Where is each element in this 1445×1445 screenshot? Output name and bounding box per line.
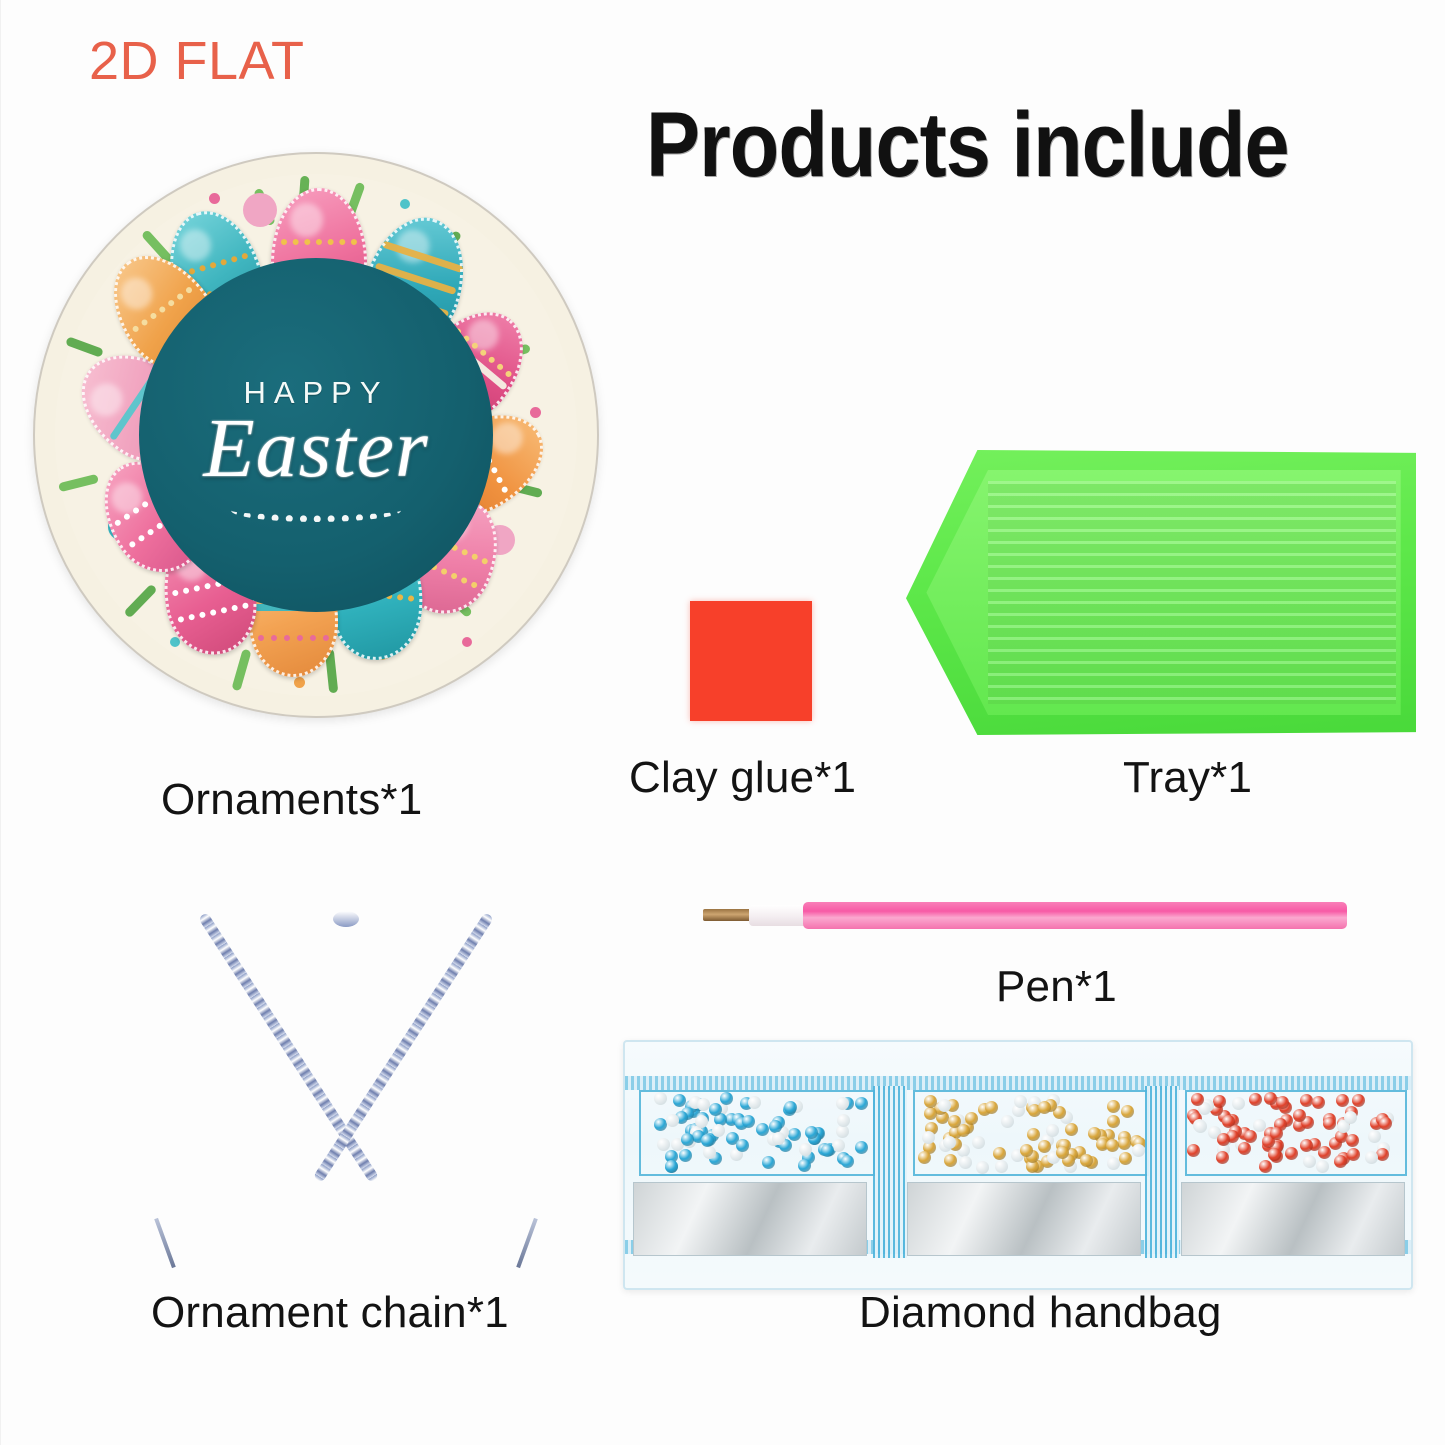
rhinestone <box>712 1124 725 1137</box>
rhinestone <box>1344 1111 1357 1124</box>
ornament-image: HAPPY Easter <box>33 152 599 718</box>
rhinestone <box>720 1092 733 1105</box>
rhinestone <box>837 1114 850 1127</box>
rhinestone <box>654 1118 667 1131</box>
rhinestone <box>841 1155 854 1168</box>
rhinestone <box>784 1101 797 1114</box>
pen-caption: Pen*1 <box>996 962 1117 1012</box>
rhinestone <box>1121 1105 1134 1118</box>
rhinestone <box>1038 1101 1051 1114</box>
stone-compartment-gold <box>913 1090 1149 1176</box>
pen-barrel <box>803 902 1347 929</box>
rhinestone <box>1316 1160 1329 1173</box>
rhinestone <box>1107 1115 1120 1128</box>
rhinestone <box>703 1146 716 1159</box>
rhinestone <box>918 1151 931 1164</box>
rhinestone <box>1216 1151 1229 1164</box>
rhinestone <box>1365 1151 1378 1164</box>
rhinestone <box>1106 1139 1119 1152</box>
ornament-chain-caption: Ornament chain*1 <box>151 1288 509 1338</box>
rhinestone <box>1334 1155 1347 1168</box>
chain-pin-right <box>516 1218 538 1268</box>
rhinestone <box>836 1097 849 1110</box>
rhinestone <box>1118 1137 1131 1150</box>
bag-divider-2 <box>1145 1086 1179 1258</box>
ornament-caption: Ornaments*1 <box>161 775 422 825</box>
rhinestone <box>666 1114 679 1127</box>
rhinestone <box>1132 1144 1145 1157</box>
rhinestone <box>1238 1142 1251 1155</box>
stone-compartment-red <box>1185 1090 1407 1176</box>
tray-grooves <box>988 481 1396 703</box>
pen-image <box>677 896 1347 936</box>
rhinestone <box>756 1123 769 1136</box>
rhinestone <box>805 1126 818 1139</box>
rhinestone <box>1300 1094 1313 1107</box>
bag-zip-top <box>625 1076 1411 1090</box>
rhinestone <box>1014 1095 1027 1108</box>
rhinestone <box>1107 1100 1120 1113</box>
rhinestone <box>922 1131 935 1144</box>
rhinestone <box>1336 1094 1349 1107</box>
rhinestone <box>679 1149 692 1162</box>
script-swash <box>231 499 401 522</box>
rhinestone <box>1270 1127 1283 1140</box>
ornament-disc: HAPPY Easter <box>33 152 599 718</box>
rhinestone <box>673 1094 686 1107</box>
rhinestone <box>1318 1146 1331 1159</box>
rhinestone <box>769 1120 782 1133</box>
rhinestone <box>762 1156 775 1169</box>
rhinestone <box>1303 1155 1316 1168</box>
rhinestone <box>1347 1148 1360 1161</box>
foil-pouch-3 <box>1181 1182 1405 1256</box>
rhinestone <box>1285 1147 1298 1160</box>
diamond-handbag-image <box>623 1040 1413 1290</box>
rhinestone <box>855 1097 868 1110</box>
rhinestone <box>1065 1123 1078 1136</box>
rhinestone <box>1264 1092 1277 1105</box>
rhinestone <box>1001 1115 1014 1128</box>
rhinestone <box>976 1161 989 1174</box>
chain-arm-left <box>198 912 379 1183</box>
tray-body <box>906 450 1416 735</box>
rhinestone <box>742 1115 755 1128</box>
easter-text: Easter <box>139 400 493 497</box>
rhinestone <box>1368 1130 1381 1143</box>
diamond-handbag-caption: Diamond handbag <box>859 1288 1222 1338</box>
rhinestone <box>654 1092 667 1105</box>
rhinestone <box>1107 1157 1120 1170</box>
clay-glue-image <box>690 601 812 721</box>
tray-image <box>906 450 1416 735</box>
chain-arm-right <box>313 912 494 1183</box>
clay-glue-caption: Clay glue*1 <box>629 753 856 803</box>
rhinestone <box>924 1095 937 1108</box>
ornament-chain-image <box>141 915 551 1275</box>
rhinestone <box>1293 1109 1306 1122</box>
rhinestone <box>1276 1096 1289 1109</box>
foil-pouch-1 <box>633 1182 867 1256</box>
product-listing-page: 2D FLAT Products include <box>0 0 1445 1445</box>
rhinestone <box>1312 1096 1325 1109</box>
disc-center: HAPPY Easter <box>139 258 493 612</box>
pen-ferrule <box>749 905 811 926</box>
rhinestone <box>1232 1097 1245 1110</box>
chain-pin-left <box>154 1218 176 1268</box>
rhinestone <box>1020 1144 1033 1157</box>
rhinestone <box>1027 1128 1040 1141</box>
rhinestone <box>1194 1120 1207 1133</box>
rhinestone <box>924 1107 937 1120</box>
rhinestone <box>995 1160 1008 1173</box>
rhinestone <box>1323 1117 1336 1130</box>
rhinestone <box>1191 1093 1204 1106</box>
rhinestone <box>959 1156 972 1169</box>
foil-pouch-2 <box>907 1182 1141 1256</box>
rhinestone <box>965 1112 978 1125</box>
badge-2d-flat: 2D FLAT <box>89 30 305 92</box>
handbag-bag <box>623 1040 1413 1290</box>
rhinestone <box>772 1132 785 1145</box>
rhinestone <box>993 1147 1006 1160</box>
rhinestone <box>657 1138 670 1151</box>
rhinestone <box>1056 1146 1069 1159</box>
rhinestone <box>1259 1160 1272 1173</box>
rhinestone <box>1249 1093 1262 1106</box>
rhinestone <box>1213 1095 1226 1108</box>
rhinestone <box>1187 1144 1200 1157</box>
rhinestone <box>1352 1094 1365 1107</box>
rhinestone <box>736 1139 749 1152</box>
rhinestone <box>1119 1152 1132 1165</box>
rhinestone <box>1217 1133 1230 1146</box>
rhinestone <box>972 1136 985 1149</box>
tray-caption: Tray*1 <box>1123 753 1252 803</box>
rhinestone <box>938 1099 951 1112</box>
bag-divider-1 <box>873 1086 907 1258</box>
rhinestone <box>798 1159 811 1172</box>
rhinestone <box>821 1144 834 1157</box>
rhinestone <box>665 1160 678 1173</box>
rhinestone <box>855 1141 868 1154</box>
rhinestone <box>944 1154 957 1167</box>
rhinestone <box>1379 1117 1392 1130</box>
page-title: Products include <box>646 93 1289 198</box>
rhinestone <box>985 1101 998 1114</box>
rhinestone <box>1046 1124 1059 1137</box>
rhinestone <box>748 1096 761 1109</box>
stone-compartment-blue <box>639 1090 875 1176</box>
rhinestone <box>709 1103 722 1116</box>
rhinestone <box>1346 1134 1359 1147</box>
chain-apex <box>333 911 359 927</box>
